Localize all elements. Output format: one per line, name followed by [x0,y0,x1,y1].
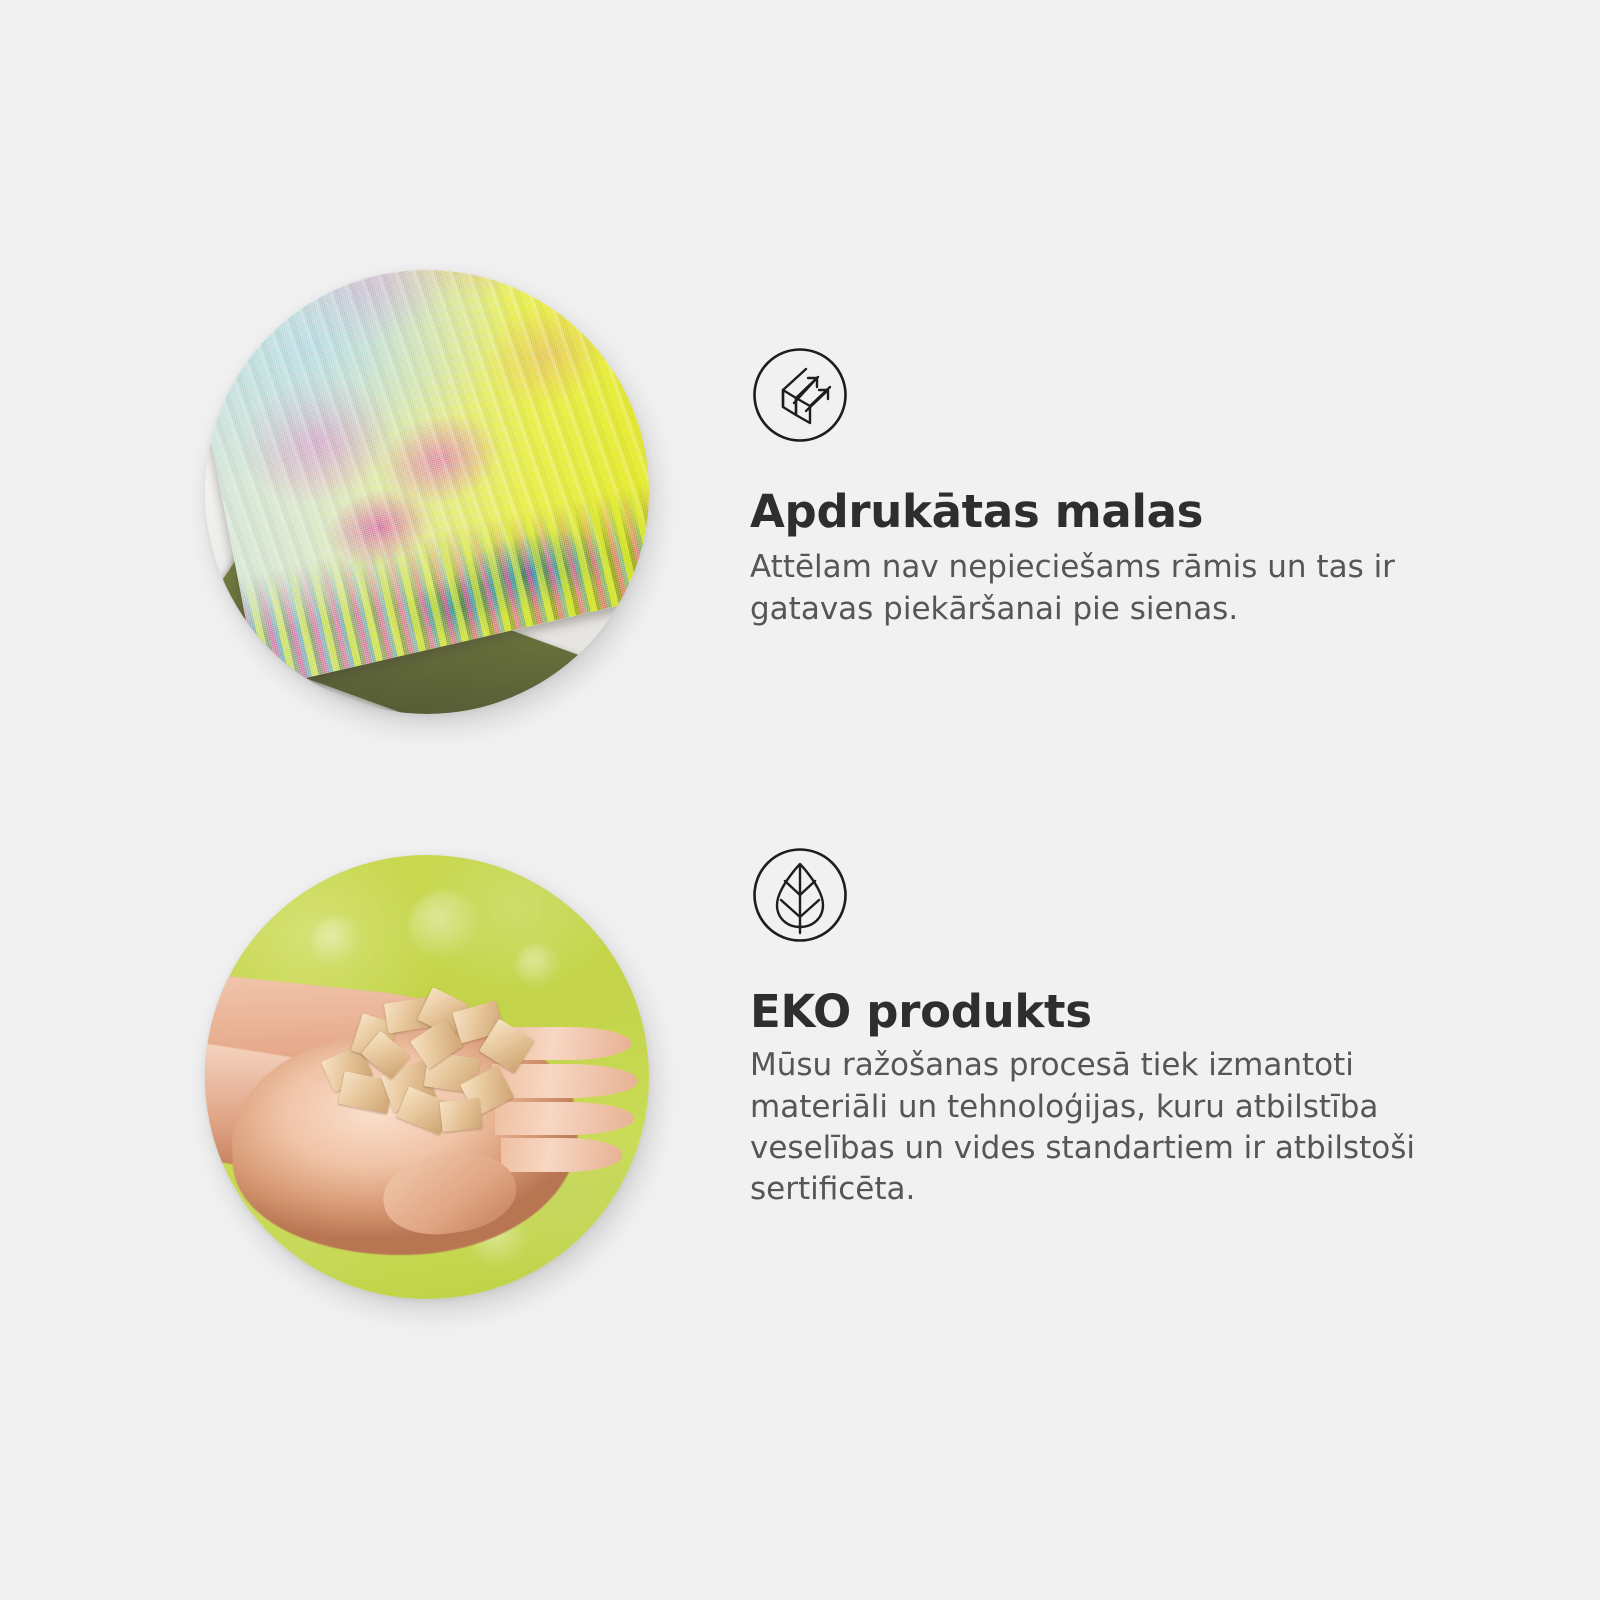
eco-product-photo-wrapper [205,855,649,1299]
feature-eco-product: EKO produkts Mūsu ražošanas procesā tiek… [0,835,1600,1335]
feature-title: Apdrukātas malas [750,487,1510,537]
bokeh-highlight [409,891,480,962]
wood-chip [439,1098,482,1132]
feature-printed-edges: Apdrukātas malas Attēlam nav nepieciešam… [0,250,1600,750]
feature-title: EKO produkts [750,987,1510,1037]
canvas-wrapped-edges-icon [750,345,850,445]
printed-edges-photo-wrapper [205,270,649,714]
eco-product-text-column: EKO produkts Mūsu ražošanas procesā tiek… [750,845,1510,1210]
printed-edges-photo [205,270,649,714]
leaf-icon [750,845,850,945]
bokeh-highlight [312,917,361,966]
wood-chips-pile [312,988,561,1139]
finger [501,1138,622,1171]
bokeh-highlight [516,944,560,988]
printed-edges-text-column: Apdrukātas malas Attēlam nav nepieciešam… [750,345,1510,630]
eco-product-photo [205,855,649,1299]
feature-description: Mūsu ražošanas procesā tiek izmantoti ma… [750,1045,1470,1210]
feature-description: Attēlam nav nepieciešams rāmis un tas ir… [750,547,1470,629]
product-features-page: Apdrukātas malas Attēlam nav nepieciešam… [0,0,1600,1600]
